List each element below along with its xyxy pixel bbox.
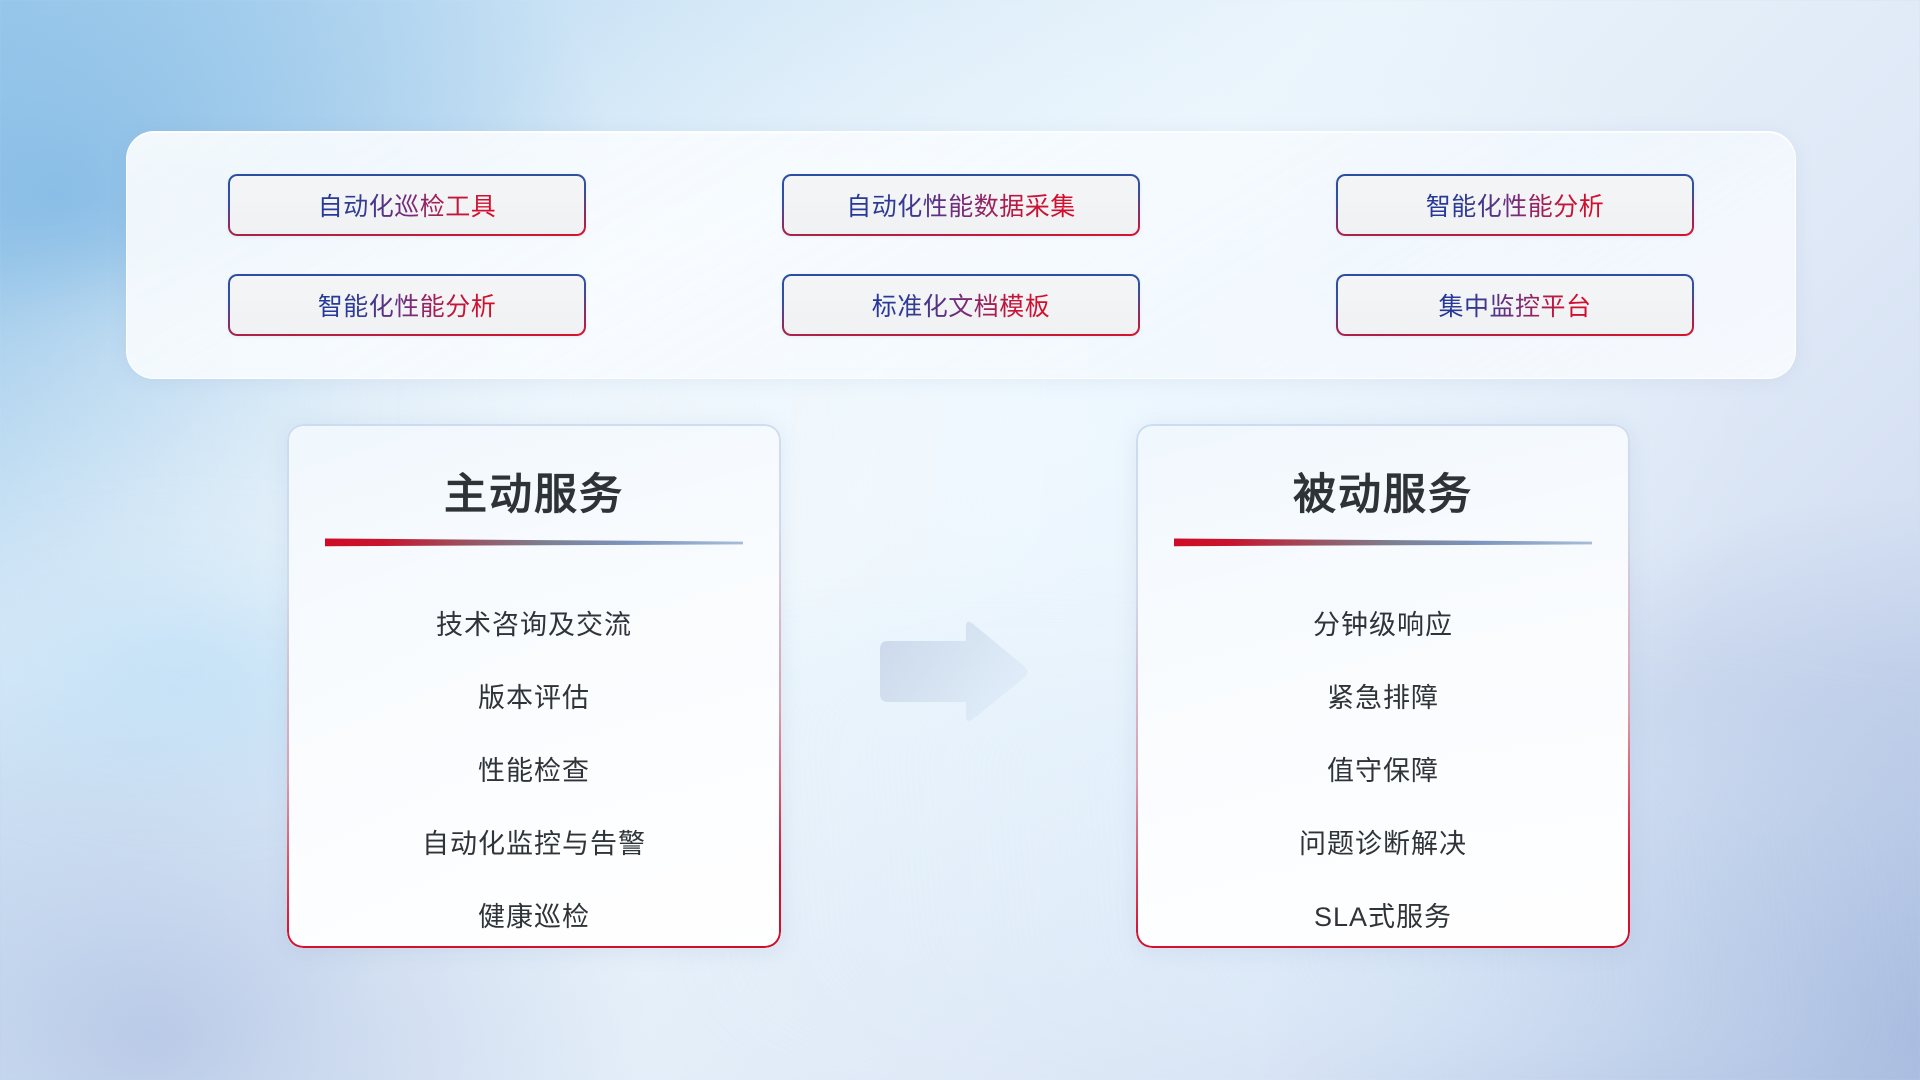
list-item: 性能检查 (478, 735, 590, 808)
list-item: 分钟级响应 (1313, 589, 1453, 662)
capability-chip-intelligent-performance-analysis[interactable]: 智能化性能分析 (1336, 174, 1694, 236)
list-item: 版本评估 (478, 662, 590, 735)
card-divider-icon (325, 537, 743, 549)
capability-chip-centralized-monitoring-platform[interactable]: 集中监控平台 (1336, 274, 1694, 336)
list-item: 值守保障 (1327, 735, 1439, 808)
list-item: 问题诊断解决 (1299, 808, 1467, 881)
service-card-reactive: 被动服务 分钟级响应 紧急排障 值守保障 问题诊断解决 SLA式服务 (1136, 424, 1630, 948)
card-title: 被动服务 (1136, 460, 1630, 522)
chip-label: 智能化性能分析 (1426, 187, 1605, 223)
list-item: 自动化监控与告警 (422, 808, 646, 881)
capability-chip-intelligent-performance-analysis-2[interactable]: 智能化性能分析 (228, 274, 586, 336)
arrow-right-icon (872, 616, 1032, 726)
list-item: 健康巡检 (478, 881, 590, 948)
card-service-list: 技术咨询及交流 版本评估 性能检查 自动化监控与告警 健康巡检 (287, 589, 781, 948)
chip-label: 智能化性能分析 (318, 287, 497, 323)
card-service-list: 分钟级响应 紧急排障 值守保障 问题诊断解决 SLA式服务 (1136, 589, 1630, 948)
capability-chip-automated-performance-data-collection[interactable]: 自动化性能数据采集 (782, 174, 1140, 236)
capability-chip-automated-inspection-tool[interactable]: 自动化巡检工具 (228, 174, 586, 236)
service-card-proactive: 主动服务 技术咨询及交流 版本评估 性能检查 自动化监控与告警 健康巡检 (287, 424, 781, 948)
chip-label: 自动化巡检工具 (318, 187, 497, 223)
list-item: SLA式服务 (1314, 881, 1452, 948)
capability-chip-grid: 自动化巡检工具 自动化性能数据采集 智能化性能分析 智能化性能分析 标准化文档模… (228, 174, 1694, 336)
capability-chip-standardized-document-template[interactable]: 标准化文档模板 (782, 274, 1140, 336)
chip-label: 自动化性能数据采集 (846, 187, 1076, 223)
list-item: 技术咨询及交流 (436, 589, 632, 662)
chip-label: 标准化文档模板 (872, 287, 1051, 323)
chip-label: 集中监控平台 (1438, 287, 1591, 323)
list-item: 紧急排障 (1327, 662, 1439, 735)
card-title: 主动服务 (287, 460, 781, 522)
capability-panel: 自动化巡检工具 自动化性能数据采集 智能化性能分析 智能化性能分析 标准化文档模… (126, 131, 1796, 379)
card-divider-icon (1174, 537, 1592, 549)
